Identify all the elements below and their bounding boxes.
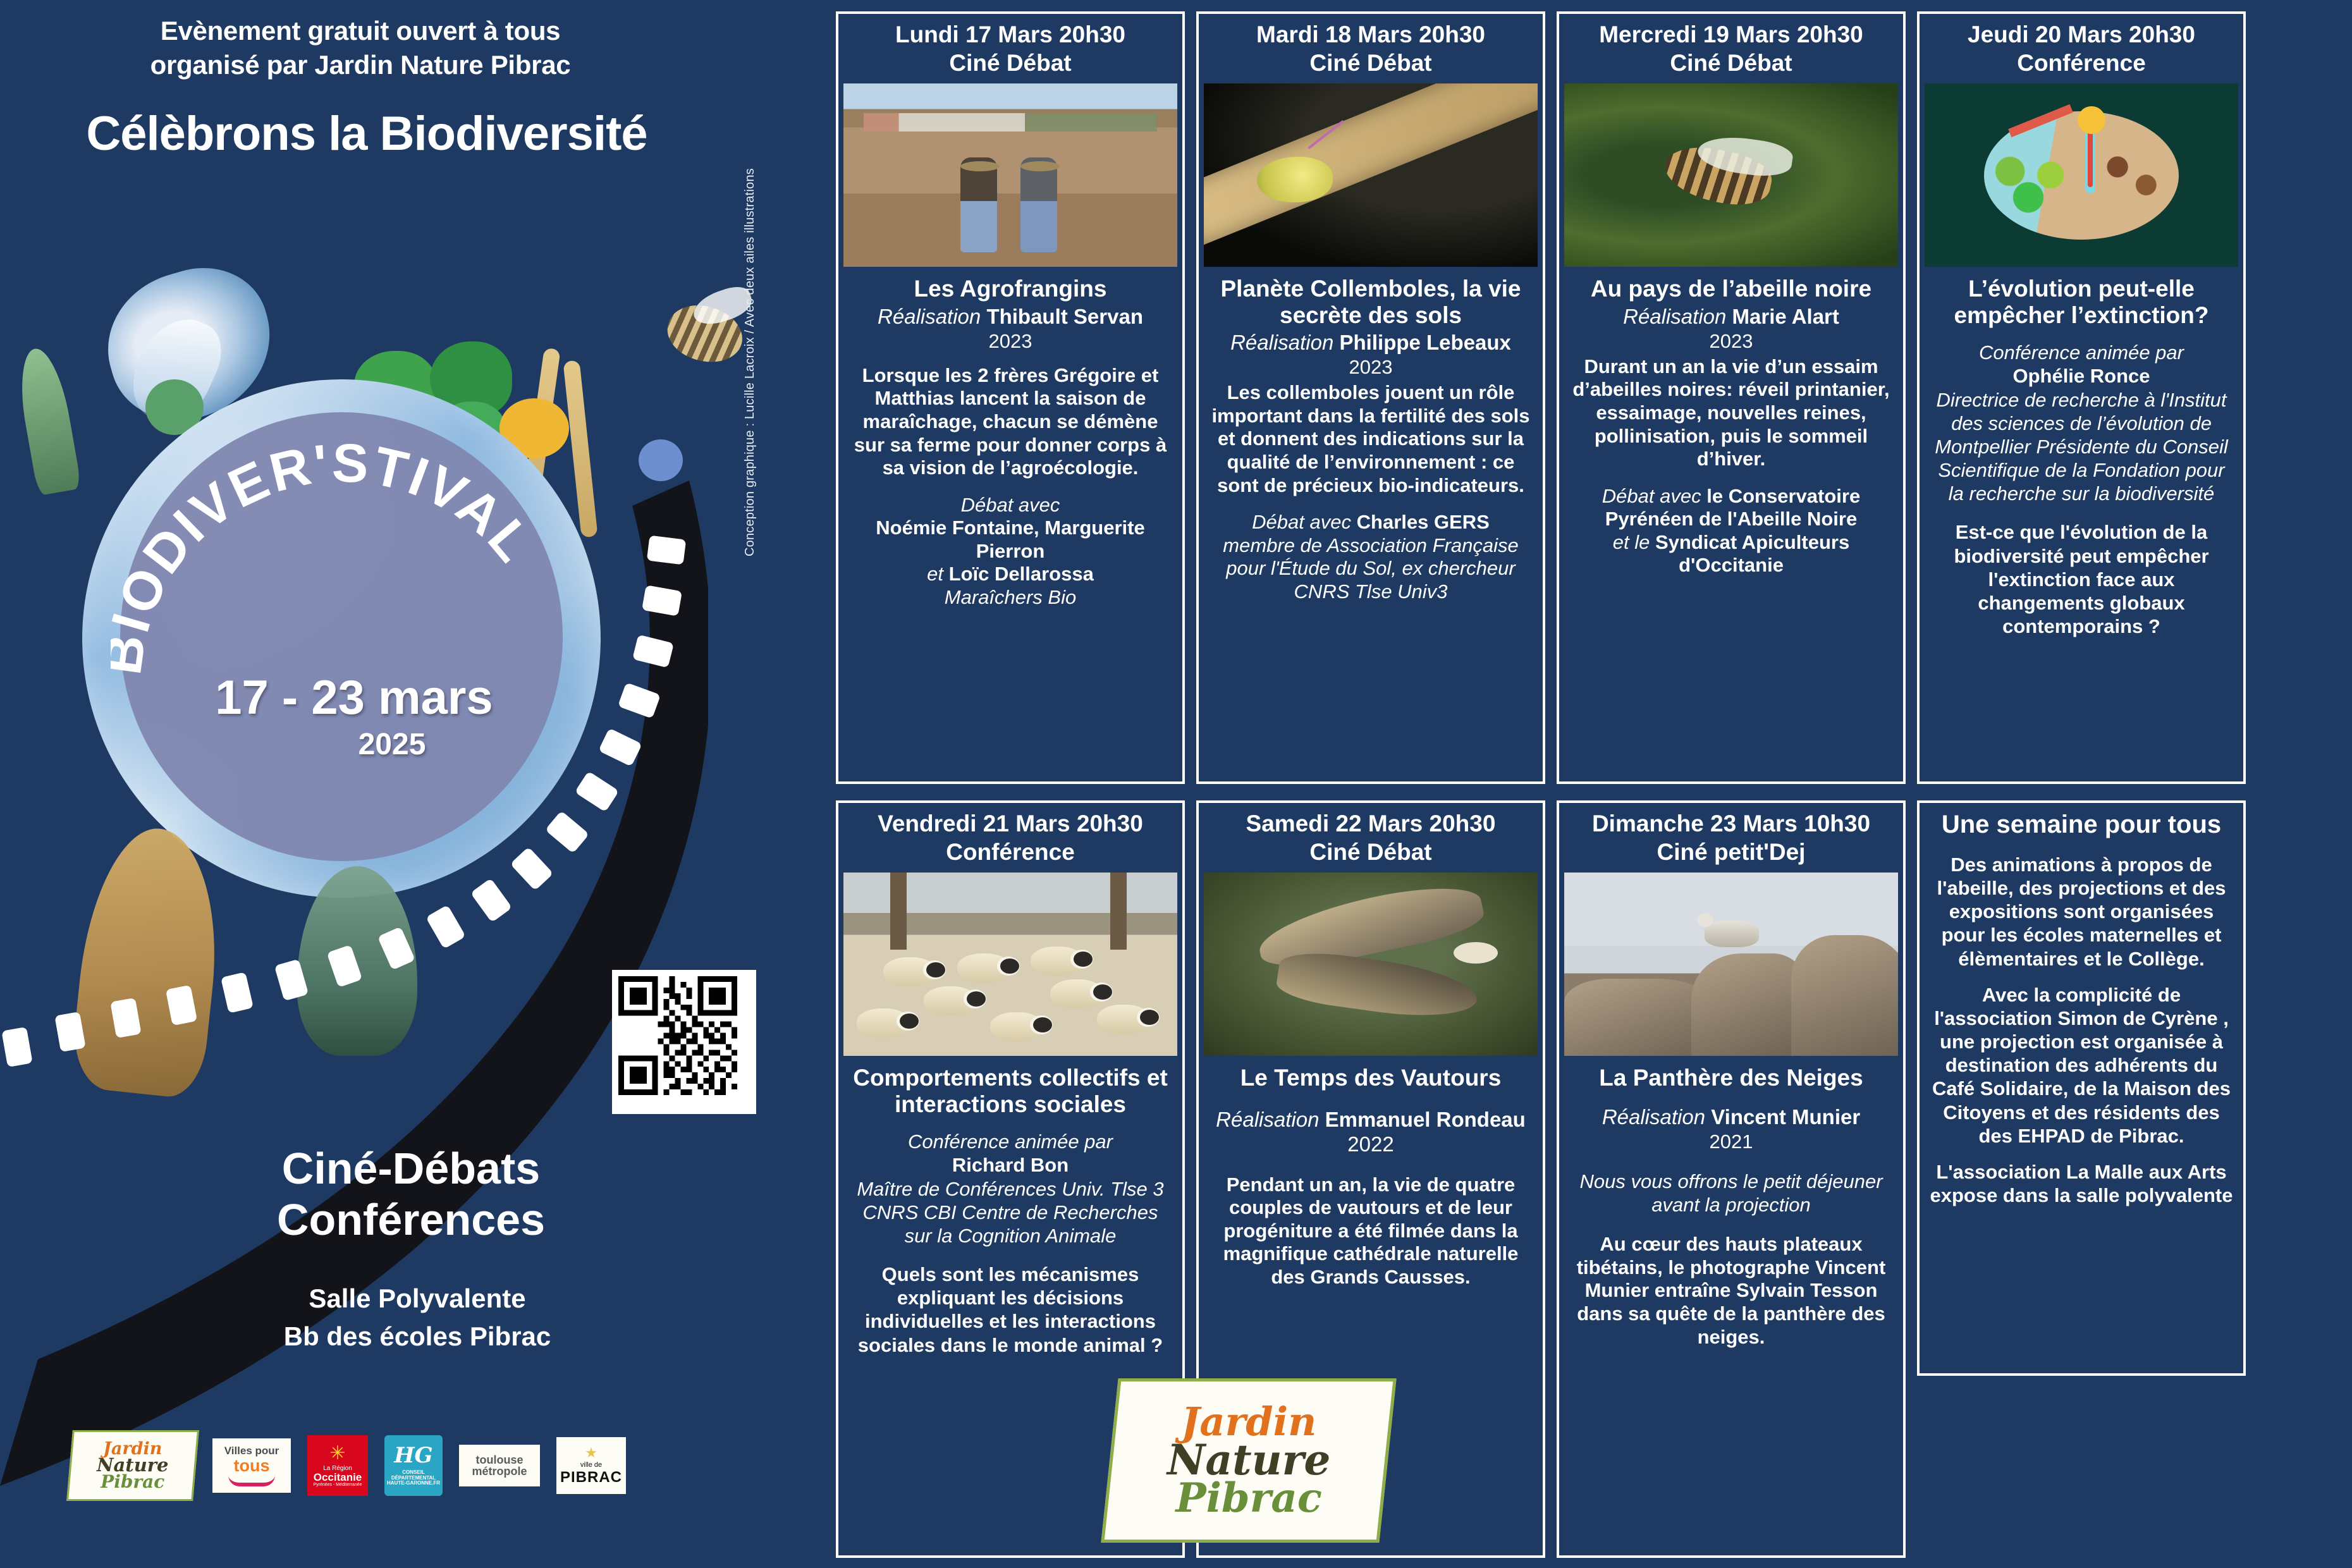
realisation-label: Réalisation — [1623, 305, 1726, 328]
cornflower-icon — [639, 439, 683, 481]
venue-line-1: Salle Polyvalente — [82, 1280, 752, 1318]
photo-flock-of-sheep — [843, 873, 1177, 1056]
film-title: Les Agrofrangins — [850, 276, 1171, 302]
card-type: Conférence — [1925, 49, 2238, 77]
poster-root: Evènement gratuit ouvert à tous organisé… — [0, 0, 2352, 1568]
film-title: Au pays de l’abeille noire — [1571, 276, 1892, 302]
breakfast-note: Nous vous offrons le petit déjeuner avan… — [1571, 1170, 1892, 1216]
debate-role: Maraîchers Bio — [945, 586, 1076, 608]
format-line-2: Conférences — [82, 1194, 740, 1246]
debate-label: Débat avec — [1252, 511, 1351, 533]
logo-tm-line2: métropole — [472, 1466, 527, 1477]
logo-region-occitanie: ✳ La Région Occitanie Pyrénées - Méditer… — [307, 1435, 368, 1496]
card-header: Lundi 17 Mars 20h30 Ciné Débat — [843, 20, 1177, 77]
debate-conj: et le — [1613, 531, 1650, 553]
film-year: 2023 — [850, 329, 1171, 353]
page-title: Célèbrons la Biodiversité — [0, 106, 733, 161]
intro-text: Evènement gratuit ouvert à tous organisé… — [0, 14, 721, 82]
logo-occ-line2: Occitanie — [314, 1472, 362, 1483]
logo-hg-sub: CONSEIL DÉPARTEMENTAL HAUTE-GARONNE.FR — [384, 1470, 443, 1486]
film-title: Planète Collemboles, la vie secrète des … — [1210, 276, 1531, 328]
speaker-role: Maître de Conférences Univ. Tlse 3 CNRS … — [857, 1178, 1163, 1247]
svg-text:BIODIVER'STIVAL: BIODIVER'STIVAL — [111, 432, 546, 678]
film-year: 2021 — [1571, 1130, 1892, 1153]
film-year: 2023 — [1210, 355, 1531, 379]
card-date: Lundi 17 Mars 20h30 — [843, 20, 1177, 49]
film-description: Pendant un an, la vie de quatre couples … — [1210, 1173, 1531, 1289]
left-panel: Evènement gratuit ouvert à tous organisé… — [0, 0, 816, 1568]
intro-line-1: Evènement gratuit ouvert à tous — [0, 14, 721, 48]
card-type: Ciné Débat — [843, 49, 1177, 77]
director-name: Emmanuel Rondeau — [1325, 1108, 1526, 1131]
debate-label: Débat avec — [1602, 485, 1701, 507]
photo-griffon-vulture-in-flight — [1204, 873, 1538, 1056]
film-director: Réalisation Thibault Servan — [850, 305, 1171, 329]
debate-block: Débat avec Charles GERS membre de Associ… — [1210, 511, 1531, 603]
qr-code[interactable] — [612, 970, 756, 1114]
film-description: Lorsque les 2 frères Grégoire et Matthia… — [850, 364, 1171, 480]
photo-abeille-noire-black-bee — [1564, 83, 1898, 267]
card-header: Vendredi 21 Mars 20h30 Conférence — [843, 809, 1177, 866]
card-date: Dimanche 23 Mars 10h30 — [1564, 809, 1898, 838]
logo-ville-de-pibrac: ★ ville de PIBRAC — [556, 1437, 626, 1494]
partner-logos: Jardin Nature Pibrac Villes pour tous ✳ … — [70, 1430, 626, 1501]
venue-line-2: Bb des écoles Pibrac — [82, 1318, 752, 1356]
director-name: Vincent Munier — [1711, 1105, 1860, 1129]
logo-villes-pour-tous: Villes pour tous — [212, 1438, 291, 1493]
film-description: Au cœur des hauts plateaux tibétains, le… — [1571, 1233, 1892, 1349]
debate-name-2: Loïc Dellarossa — [949, 563, 1094, 585]
photo-snow-leopard-on-rocks — [1564, 873, 1898, 1056]
logo-vpt-line1: Villes pour — [224, 1445, 279, 1456]
summary-paragraph-3: L'association La Malle aux Arts expose d… — [1925, 1160, 2238, 1207]
realisation-label: Réalisation — [1602, 1105, 1705, 1129]
card-body: Au pays de l’abeille noire Réalisation M… — [1564, 267, 1898, 577]
speaker-block: Conférence animée par Ophélie Ronce Dire… — [1931, 341, 2232, 505]
event-year: 2025 — [272, 727, 512, 762]
venue-block: Salle Polyvalente Bb des écoles Pibrac — [82, 1280, 752, 1355]
debate-conj: et — [927, 563, 943, 585]
conference-question: Est-ce que l'évolution de la biodiversit… — [1931, 520, 2232, 638]
card-body: Planète Collemboles, la vie secrète des … — [1204, 267, 1538, 603]
logo-vpt-line2: tous — [234, 1457, 270, 1474]
film-year: 2023 — [1571, 329, 1892, 353]
logo-hg-mark: HG — [394, 1445, 432, 1466]
logo-vpt-arc — [228, 1475, 275, 1486]
card-date: Mardi 18 Mars 20h30 — [1204, 20, 1538, 49]
film-year: 2022 — [1347, 1132, 1393, 1156]
event-format-heading: Ciné-Débats Conférences — [82, 1143, 740, 1246]
realisation-label: Réalisation — [1216, 1108, 1319, 1131]
debate-block: Débat avec Noémie Fontaine, Marguerite P… — [850, 494, 1171, 609]
film-description: Durant un an la vie d’un essaim d’abeill… — [1571, 355, 1892, 471]
card-type: Ciné Débat — [1564, 49, 1898, 77]
design-credit: Conception graphique : Lucille Lacroix /… — [743, 114, 757, 556]
film-description: Les collemboles jouent un rôle important… — [1210, 381, 1531, 497]
logo-occ-line3: Pyrénées - Méditerranée — [313, 1483, 362, 1487]
logo-jardin-nature-pibrac: Jardin Nature Pibrac — [66, 1430, 199, 1501]
film-director: Réalisation Marie Alart — [1571, 305, 1892, 329]
format-line-1: Ciné-Débats — [82, 1143, 740, 1194]
conference-label: Conférence animée par — [1979, 341, 2184, 364]
film-director: Réalisation Emmanuel Rondeau 2022 — [1210, 1108, 1531, 1157]
illustration-climate-change-landscape — [1925, 83, 2238, 267]
photo-collembole-springtail-macro — [1204, 83, 1538, 267]
card-mercredi[interactable]: Mercredi 19 Mars 20h30 Ciné Débat Au pay… — [1557, 11, 1906, 784]
debate-names: Charles GERS — [1357, 511, 1490, 533]
brand-arc-logo: BIODIVER'STIVAL — [111, 417, 572, 879]
logo-tm-line1: toulouse — [476, 1454, 524, 1466]
conference-title: Comportements collectifs et interactions… — [850, 1065, 1171, 1117]
card-body: La Panthère des Neiges Réalisation Vince… — [1564, 1056, 1898, 1349]
card-type: Conférence — [843, 838, 1177, 866]
film-title: La Panthère des Neiges — [1571, 1065, 1892, 1091]
debate-names: Noémie Fontaine, Marguerite Pierron — [876, 517, 1144, 562]
intro-line-2: organisé par Jardin Nature Pibrac — [0, 48, 721, 82]
card-dimanche[interactable]: Dimanche 23 Mars 10h30 Ciné petit'Dej La… — [1557, 800, 1906, 1558]
debate-role: membre de Association Française pour l'É… — [1223, 534, 1519, 603]
summary-paragraph-1: Des animations à propos de l'abeille, de… — [1925, 853, 2238, 971]
footer-logo-line3: Pibrac — [1167, 1478, 1330, 1519]
logo-haute-garonne: HG CONSEIL DÉPARTEMENTAL HAUTE-GARONNE.F… — [384, 1435, 443, 1496]
film-director: Réalisation Vincent Munier — [1571, 1105, 1892, 1130]
conference-title: L’évolution peut-elle empêcher l’extinct… — [1931, 276, 2232, 328]
conference-question: Quels sont les mécanismes expliquant les… — [850, 1263, 1171, 1357]
card-date: Samedi 22 Mars 20h30 — [1204, 809, 1538, 838]
summary-paragraph-2: Avec la complicité de l'association Simo… — [1925, 983, 2238, 1148]
debate-name-2: Syndicat Apiculteurs d'Occitanie — [1655, 531, 1849, 577]
card-header: Jeudi 20 Mars 20h30 Conférence — [1925, 20, 2238, 77]
card-type: Ciné Débat — [1204, 838, 1538, 866]
card-header: Mardi 18 Mars 20h30 Ciné Débat — [1204, 20, 1538, 77]
logo-jnp-line3: Pibrac — [97, 1473, 169, 1491]
conference-label: Conférence animée par — [908, 1130, 1113, 1153]
star-icon: ★ — [585, 1445, 597, 1461]
summary-title: Une semaine pour tous — [1925, 809, 2238, 840]
film-title: Le Temps des Vautours — [1210, 1065, 1531, 1091]
director-name: Thibault Servan — [986, 305, 1143, 328]
card-body: Le Temps des Vautours Réalisation Emmanu… — [1204, 1056, 1538, 1289]
card-jeudi[interactable]: Jeudi 20 Mars 20h30 Conférence L’évoluti… — [1917, 11, 2246, 784]
card-body: Comportements collectifs et interactions… — [843, 1056, 1177, 1357]
card-date: Mercredi 19 Mars 20h30 — [1564, 20, 1898, 49]
logo-pibrac-line1: ville de — [580, 1461, 602, 1469]
card-header: Dimanche 23 Mars 10h30 Ciné petit'Dej — [1564, 809, 1898, 866]
footer-logo-jardin-nature-pibrac: Jardin Nature Pibrac — [1101, 1378, 1396, 1543]
card-header: Mercredi 19 Mars 20h30 Ciné Débat — [1564, 20, 1898, 77]
card-date: Vendredi 21 Mars 20h30 — [843, 809, 1177, 838]
event-dates: 17 - 23 mars — [190, 670, 518, 725]
photo-agrofrangins-farmers-field — [843, 83, 1177, 267]
occitan-cross-icon: ✳ — [329, 1444, 345, 1463]
card-body: L’évolution peut-elle empêcher l’extinct… — [1925, 267, 2238, 638]
debate-block: Débat avec le Conservatoire Pyrénéen de … — [1571, 485, 1892, 577]
card-body: Les Agrofrangins Réalisation Thibault Se… — [843, 267, 1177, 609]
card-mardi[interactable]: Mardi 18 Mars 20h30 Ciné Débat Planète C… — [1196, 11, 1545, 784]
director-name: Philippe Lebeaux — [1340, 331, 1511, 354]
logo-pibrac-line2: PIBRAC — [560, 1469, 622, 1486]
card-type: Ciné Débat — [1204, 49, 1538, 77]
speaker-name: Ophélie Ronce — [2012, 365, 2150, 387]
speaker-block: Conférence animée par Richard Bon Maître… — [850, 1130, 1171, 1247]
logo-toulouse-metropole: toulouse métropole — [459, 1445, 540, 1486]
card-header: Samedi 22 Mars 20h30 Ciné Débat — [1204, 809, 1538, 866]
film-director: Réalisation Philippe Lebeaux — [1210, 331, 1531, 355]
grass-icon — [13, 345, 82, 496]
speaker-name: Richard Bon — [952, 1154, 1069, 1176]
card-une-semaine-pour-tous[interactable]: Une semaine pour tous Des animations à p… — [1917, 800, 2246, 1376]
realisation-label: Réalisation — [878, 305, 981, 328]
director-name: Marie Alart — [1732, 305, 1839, 328]
card-type: Ciné petit'Dej — [1564, 838, 1898, 866]
realisation-label: Réalisation — [1230, 331, 1333, 354]
card-lundi[interactable]: Lundi 17 Mars 20h30 Ciné Débat Les Agrof… — [836, 11, 1185, 784]
program-grid: Lundi 17 Mars 20h30 Ciné Débat Les Agrof… — [836, 11, 2341, 1558]
card-date: Jeudi 20 Mars 20h30 — [1925, 20, 2238, 49]
debate-label: Débat avec — [961, 494, 1060, 516]
speaker-role: Directrice de recherche à l'Institut des… — [1935, 389, 2228, 505]
